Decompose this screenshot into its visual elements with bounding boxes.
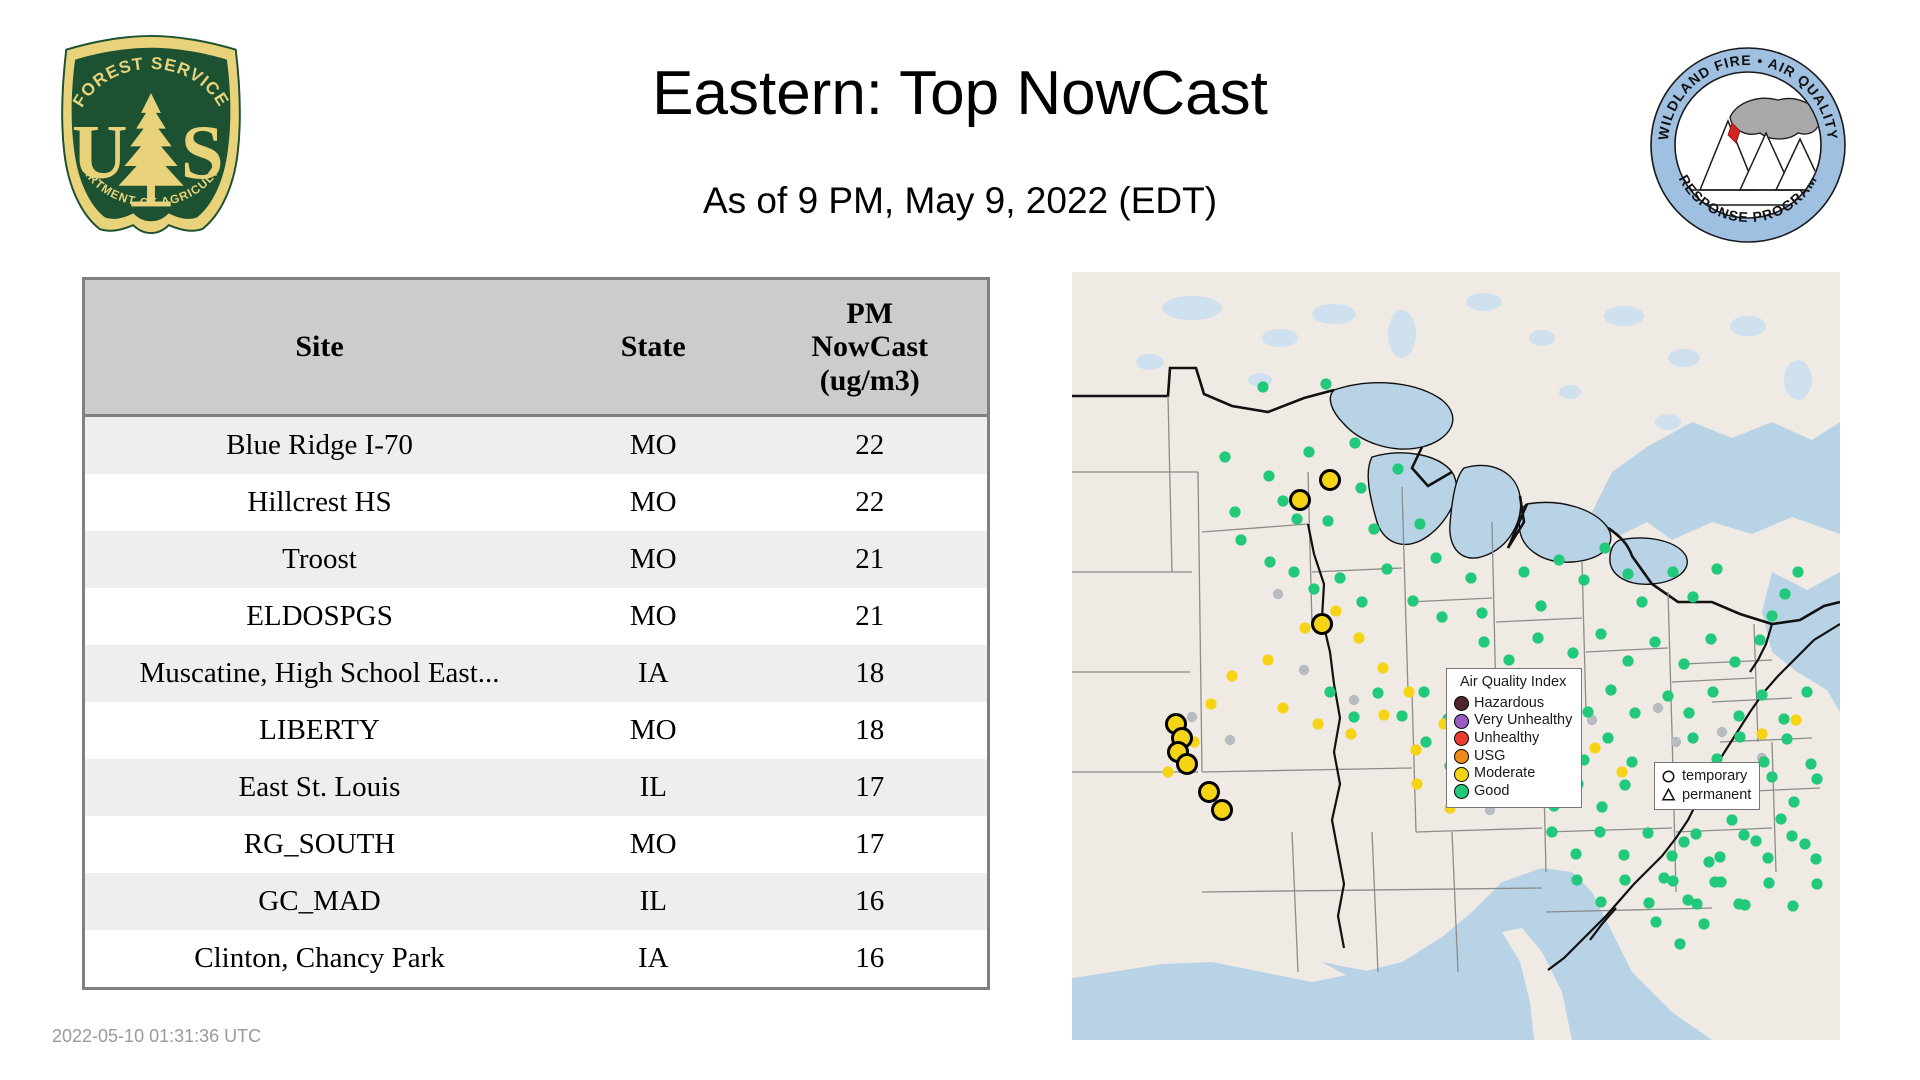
marker-good bbox=[1650, 916, 1661, 927]
marker-good bbox=[1430, 552, 1441, 563]
marker-good bbox=[1235, 534, 1246, 545]
hazardous-swatch-icon bbox=[1454, 696, 1469, 711]
marker-good bbox=[1322, 515, 1333, 526]
cell-value: 22 bbox=[752, 416, 987, 475]
marker-good bbox=[1618, 849, 1629, 860]
column-header-state: State bbox=[554, 280, 752, 416]
marker-good bbox=[1666, 850, 1677, 861]
cell-site: Blue Ridge I-70 bbox=[85, 416, 554, 475]
marker-moderate bbox=[1205, 698, 1216, 709]
marker-good bbox=[1578, 574, 1589, 585]
marker-good bbox=[1733, 710, 1744, 721]
marker-good bbox=[1674, 938, 1685, 949]
cell-site: Clinton, Chancy Park bbox=[85, 930, 554, 987]
marker-good bbox=[1392, 463, 1403, 474]
marker-good bbox=[1264, 556, 1275, 567]
cell-state: MO bbox=[554, 531, 752, 588]
marker-moderate bbox=[1377, 662, 1388, 673]
marker-good bbox=[1805, 758, 1816, 769]
column-header-pm-line1: PM bbox=[756, 297, 983, 331]
cell-site: GC_MAD bbox=[85, 873, 554, 930]
marker-good bbox=[1778, 713, 1789, 724]
column-header-site-label: Site bbox=[295, 330, 343, 363]
marker-good bbox=[1811, 878, 1822, 889]
aqi-legend-item-very-unhealthy: Very Unhealthy bbox=[1454, 712, 1572, 730]
marker-good bbox=[1649, 636, 1660, 647]
marker-good bbox=[1811, 773, 1822, 784]
marker-good bbox=[1571, 874, 1582, 885]
marker-good bbox=[1707, 686, 1718, 697]
page-title: Eastern: Top NowCast bbox=[0, 58, 1920, 129]
marker-good bbox=[1703, 856, 1714, 867]
marker-good bbox=[1729, 656, 1740, 667]
marker-good bbox=[1691, 898, 1702, 909]
monitor-type-item-temporary: temporary bbox=[1661, 767, 1751, 786]
marker-good bbox=[1705, 633, 1716, 644]
nowcast-table: Site State PM NowCast (ug/m3) Blue Ridge… bbox=[85, 280, 987, 987]
marker-good bbox=[1619, 874, 1630, 885]
marker-good bbox=[1518, 566, 1529, 577]
marker-good bbox=[1678, 658, 1689, 669]
marker-good bbox=[1698, 918, 1709, 929]
table-header-row: Site State PM NowCast (ug/m3) bbox=[85, 280, 987, 416]
monitor-type-legend: temporary permanent bbox=[1654, 762, 1760, 810]
marker-good bbox=[1667, 566, 1678, 577]
marker-good bbox=[1219, 451, 1230, 462]
marker-good bbox=[1662, 690, 1673, 701]
marker-moderate bbox=[1411, 778, 1422, 789]
marker-good bbox=[1786, 830, 1797, 841]
marker-good bbox=[1465, 572, 1476, 583]
marker-good bbox=[1546, 826, 1557, 837]
circle-outline-icon bbox=[1661, 769, 1676, 784]
nowcast-table-container: Site State PM NowCast (ug/m3) Blue Ridge… bbox=[82, 277, 990, 990]
marker-good bbox=[1622, 655, 1633, 666]
marker-good bbox=[1619, 779, 1630, 790]
cell-value: 17 bbox=[752, 759, 987, 816]
marker-moderate bbox=[1353, 632, 1364, 643]
unhealthy-swatch-icon bbox=[1454, 731, 1469, 746]
monitor-type-item-permanent: permanent bbox=[1661, 786, 1751, 805]
marker-good bbox=[1726, 814, 1737, 825]
marker-good bbox=[1535, 600, 1546, 611]
marker-good bbox=[1763, 877, 1774, 888]
aqi-legend-label: Good bbox=[1474, 783, 1509, 801]
cell-site: RG_SOUTH bbox=[85, 816, 554, 873]
marker-good bbox=[1570, 848, 1581, 859]
marker-moderate bbox=[1410, 744, 1421, 755]
column-header-site: Site bbox=[85, 280, 554, 416]
aqi-legend-item-usg: USG bbox=[1454, 748, 1572, 766]
table-row: ELDOSPGS MO 21 bbox=[85, 588, 987, 645]
marker-good bbox=[1622, 568, 1633, 579]
marker-top-site bbox=[1313, 615, 1332, 634]
usg-swatch-icon bbox=[1454, 749, 1469, 764]
marker-moderate bbox=[1162, 766, 1173, 777]
marker-no-data bbox=[1653, 703, 1663, 713]
aqi-legend-title: Air Quality Index bbox=[1454, 674, 1572, 692]
marker-good bbox=[1642, 827, 1653, 838]
marker-good bbox=[1792, 566, 1803, 577]
marker-good bbox=[1372, 687, 1383, 698]
marker-good bbox=[1567, 647, 1578, 658]
marker-good bbox=[1690, 828, 1701, 839]
marker-good bbox=[1553, 554, 1564, 565]
cell-site: Hillcrest HS bbox=[85, 474, 554, 531]
wfaqrp-logo: WILDLAND FIRE • AIR QUALITY RESPONSE PRO… bbox=[1648, 45, 1848, 245]
marker-good bbox=[1418, 686, 1429, 697]
generation-timestamp: 2022-05-10 01:31:36 UTC bbox=[52, 1026, 261, 1047]
cell-state: IA bbox=[554, 645, 752, 702]
cell-value: 16 bbox=[752, 930, 987, 987]
marker-good bbox=[1291, 513, 1302, 524]
marker-good bbox=[1643, 897, 1654, 908]
cell-state: IL bbox=[554, 873, 752, 930]
cell-value: 22 bbox=[752, 474, 987, 531]
marker-good bbox=[1303, 446, 1314, 457]
marker-moderate bbox=[1790, 714, 1801, 725]
very-unhealthy-swatch-icon bbox=[1454, 714, 1469, 729]
marker-good bbox=[1801, 686, 1812, 697]
marker-good bbox=[1781, 733, 1792, 744]
marker-moderate bbox=[1378, 709, 1389, 720]
marker-good bbox=[1476, 607, 1487, 618]
marker-good bbox=[1602, 732, 1613, 743]
marker-good bbox=[1750, 835, 1761, 846]
cell-state: IA bbox=[554, 930, 752, 987]
marker-good bbox=[1478, 636, 1489, 647]
table-header: Site State PM NowCast (ug/m3) bbox=[85, 280, 987, 416]
marker-good bbox=[1414, 518, 1425, 529]
table-row: RG_SOUTH MO 17 bbox=[85, 816, 987, 873]
marker-good bbox=[1667, 875, 1678, 886]
aqi-legend-item-unhealthy: Unhealthy bbox=[1454, 730, 1572, 748]
table-row: Clinton, Chancy Park IA 16 bbox=[85, 930, 987, 987]
aqi-legend-label: Hazardous bbox=[1474, 695, 1544, 713]
marker-good bbox=[1334, 572, 1345, 583]
marker-good bbox=[1683, 707, 1694, 718]
marker-good bbox=[1594, 826, 1605, 837]
good-swatch-icon bbox=[1454, 784, 1469, 799]
marker-moderate bbox=[1277, 702, 1288, 713]
marker-good bbox=[1775, 813, 1786, 824]
column-header-pm-nowcast: PM NowCast (ug/m3) bbox=[752, 280, 987, 416]
marker-good bbox=[1810, 853, 1821, 864]
marker-good bbox=[1715, 876, 1726, 887]
aqi-legend-item-moderate: Moderate bbox=[1454, 765, 1572, 783]
cell-value: 21 bbox=[752, 588, 987, 645]
aqi-map-svg[interactable] bbox=[1072, 272, 1840, 1040]
triangle-outline-icon bbox=[1661, 787, 1676, 802]
marker-good bbox=[1714, 851, 1725, 862]
marker-good bbox=[1595, 896, 1606, 907]
marker-good bbox=[1626, 756, 1637, 767]
cell-value: 17 bbox=[752, 816, 987, 873]
marker-good bbox=[1420, 736, 1431, 747]
cell-value: 18 bbox=[752, 702, 987, 759]
marker-moderate bbox=[1330, 605, 1341, 616]
cell-state: MO bbox=[554, 588, 752, 645]
monitor-type-label: permanent bbox=[1682, 786, 1751, 805]
cell-site: East St. Louis bbox=[85, 759, 554, 816]
marker-good bbox=[1766, 610, 1777, 621]
marker-good bbox=[1788, 796, 1799, 807]
marker-no-data bbox=[1187, 712, 1197, 722]
marker-moderate bbox=[1226, 670, 1237, 681]
marker-moderate bbox=[1756, 728, 1767, 739]
marker-no-data bbox=[1299, 665, 1309, 675]
marker-good bbox=[1687, 591, 1698, 602]
marker-good bbox=[1756, 689, 1767, 700]
marker-good bbox=[1381, 563, 1392, 574]
wfaqrp-logo-svg: WILDLAND FIRE • AIR QUALITY RESPONSE PRO… bbox=[1648, 45, 1848, 245]
marker-good bbox=[1754, 634, 1765, 645]
marker-moderate bbox=[1616, 766, 1627, 777]
table-row: East St. Louis IL 17 bbox=[85, 759, 987, 816]
table-row: GC_MAD IL 16 bbox=[85, 873, 987, 930]
table-row: Hillcrest HS MO 22 bbox=[85, 474, 987, 531]
cell-site: Troost bbox=[85, 531, 554, 588]
marker-good bbox=[1257, 381, 1268, 392]
marker-moderate bbox=[1299, 622, 1310, 633]
aqi-legend-label: Very Unhealthy bbox=[1474, 712, 1572, 730]
marker-good bbox=[1349, 437, 1360, 448]
marker-good bbox=[1436, 611, 1447, 622]
marker-good bbox=[1308, 583, 1319, 594]
page-subtitle: As of 9 PM, May 9, 2022 (EDT) bbox=[0, 180, 1920, 222]
marker-good bbox=[1734, 731, 1745, 742]
cell-state: MO bbox=[554, 416, 752, 475]
column-header-pm-line3: (ug/m3) bbox=[756, 364, 983, 398]
marker-top-site bbox=[1178, 755, 1197, 774]
cell-state: MO bbox=[554, 702, 752, 759]
marker-good bbox=[1787, 900, 1798, 911]
marker-good bbox=[1766, 771, 1777, 782]
marker-good bbox=[1532, 632, 1543, 643]
marker-good bbox=[1738, 829, 1749, 840]
marker-good bbox=[1277, 495, 1288, 506]
marker-good bbox=[1629, 707, 1640, 718]
marker-no-data bbox=[1671, 737, 1681, 747]
marker-no-data bbox=[1273, 589, 1283, 599]
marker-good bbox=[1799, 838, 1810, 849]
marker-good bbox=[1711, 563, 1722, 574]
marker-good bbox=[1355, 482, 1366, 493]
cell-site: LIBERTY bbox=[85, 702, 554, 759]
marker-good bbox=[1687, 732, 1698, 743]
marker-good bbox=[1762, 852, 1773, 863]
marker-good bbox=[1263, 470, 1274, 481]
aqi-legend-label: Unhealthy bbox=[1474, 730, 1539, 748]
aqi-legend-item-good: Good bbox=[1454, 783, 1572, 801]
marker-good bbox=[1678, 836, 1689, 847]
marker-good bbox=[1288, 566, 1299, 577]
moderate-swatch-icon bbox=[1454, 767, 1469, 782]
marker-good bbox=[1356, 596, 1367, 607]
marker-good bbox=[1320, 378, 1331, 389]
marker-no-data bbox=[1717, 727, 1727, 737]
marker-good bbox=[1324, 686, 1335, 697]
cell-value: 18 bbox=[752, 645, 987, 702]
marker-top-site bbox=[1321, 471, 1340, 490]
marker-moderate bbox=[1312, 718, 1323, 729]
marker-good bbox=[1599, 542, 1610, 553]
cell-site: Muscatine, High School East... bbox=[85, 645, 554, 702]
marker-good bbox=[1739, 899, 1750, 910]
marker-moderate bbox=[1589, 742, 1600, 753]
table-row: Troost MO 21 bbox=[85, 531, 987, 588]
cell-state: MO bbox=[554, 816, 752, 873]
marker-good bbox=[1407, 595, 1418, 606]
marker-good bbox=[1348, 711, 1359, 722]
table-body: Blue Ridge I-70 MO 22 Hillcrest HS MO 22… bbox=[85, 416, 987, 988]
cell-state: IL bbox=[554, 759, 752, 816]
marker-moderate bbox=[1403, 686, 1414, 697]
cell-value: 16 bbox=[752, 873, 987, 930]
marker-no-data bbox=[1225, 735, 1235, 745]
smoke-plume-icon bbox=[1730, 98, 1819, 139]
table-row: LIBERTY MO 18 bbox=[85, 702, 987, 759]
marker-moderate bbox=[1262, 654, 1273, 665]
aqi-legend-item-hazardous: Hazardous bbox=[1454, 695, 1572, 713]
marker-good bbox=[1368, 523, 1379, 534]
marker-good bbox=[1503, 654, 1514, 665]
column-header-state-label: State bbox=[621, 330, 686, 363]
marker-top-site bbox=[1291, 491, 1310, 510]
marker-good bbox=[1582, 706, 1593, 717]
marker-top-site bbox=[1200, 783, 1219, 802]
cell-state: MO bbox=[554, 474, 752, 531]
aqi-legend-label: USG bbox=[1474, 748, 1505, 766]
marker-good bbox=[1605, 684, 1616, 695]
aqi-legend-label: Moderate bbox=[1474, 765, 1535, 783]
table-row: Blue Ridge I-70 MO 22 bbox=[85, 416, 987, 475]
marker-good bbox=[1595, 628, 1606, 639]
marker-good bbox=[1779, 588, 1790, 599]
marker-moderate bbox=[1345, 728, 1356, 739]
table-row: Muscatine, High School East... IA 18 bbox=[85, 645, 987, 702]
nowcast-report-page: FOREST SERVICE DEPARTMENT OF AGRICULTURE… bbox=[0, 0, 1920, 1080]
monitor-type-label: temporary bbox=[1682, 767, 1747, 786]
cell-value: 21 bbox=[752, 531, 987, 588]
marker-good bbox=[1636, 596, 1647, 607]
marker-good bbox=[1396, 710, 1407, 721]
marker-no-data bbox=[1349, 695, 1359, 705]
marker-good bbox=[1596, 801, 1607, 812]
marker-top-site bbox=[1213, 801, 1232, 820]
cell-site: ELDOSPGS bbox=[85, 588, 554, 645]
aqi-map[interactable]: Air Quality Index Hazardous Very Unhealt… bbox=[1072, 272, 1840, 1040]
aqi-legend: Air Quality Index Hazardous Very Unhealt… bbox=[1446, 668, 1582, 808]
marker-good bbox=[1229, 506, 1240, 517]
column-header-pm-line2: NowCast bbox=[756, 330, 983, 364]
